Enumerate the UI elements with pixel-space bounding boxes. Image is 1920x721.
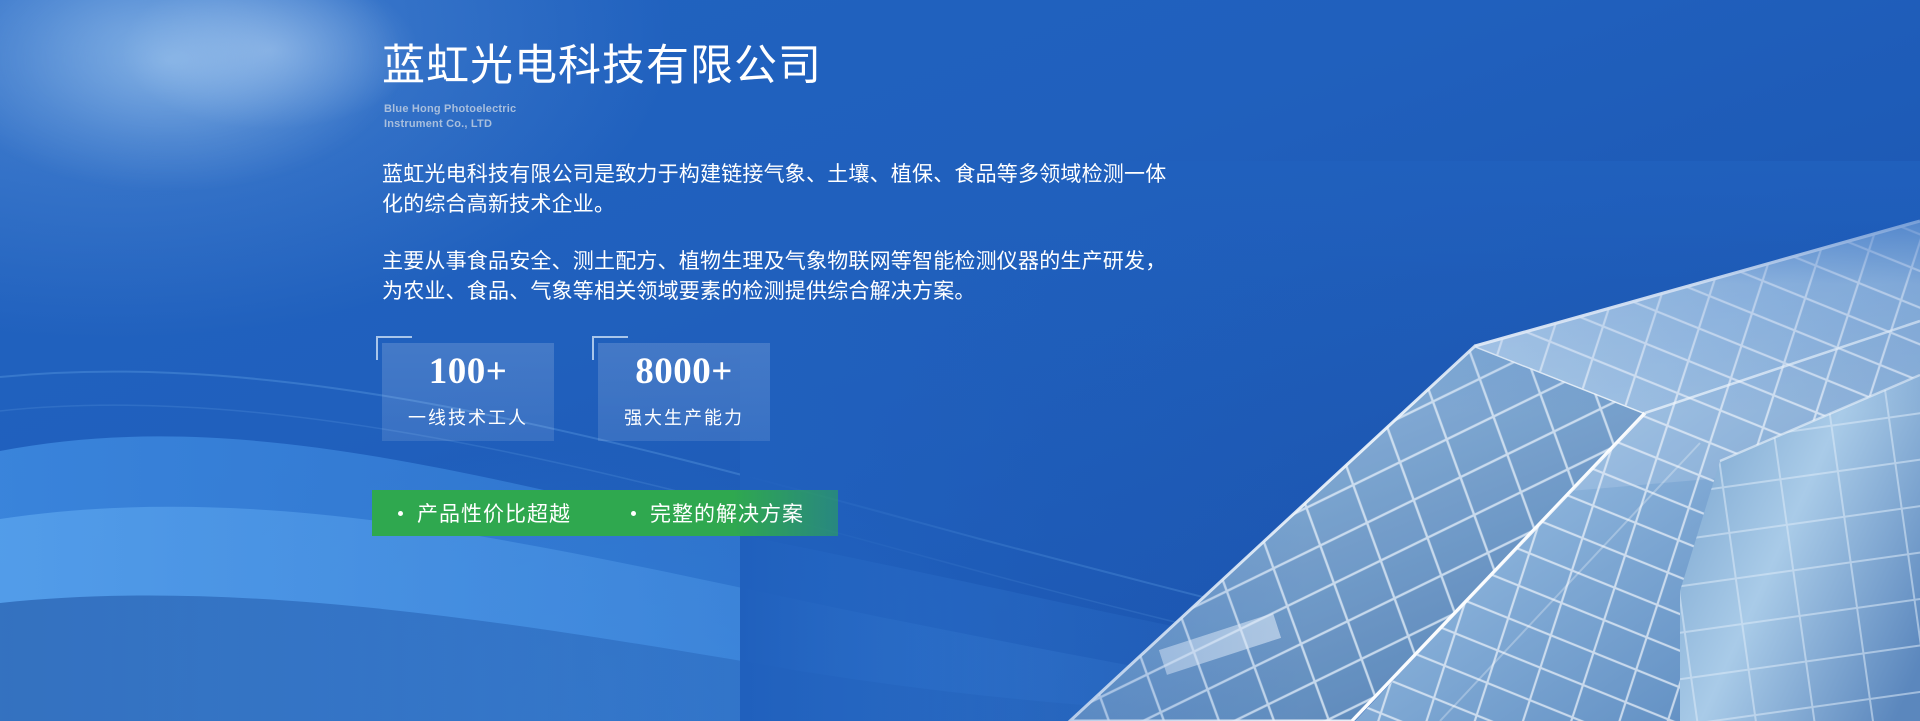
hero-banner: 蓝虹光电科技有限公司 Blue Hong Photoelectric Instr… [0,0,1920,721]
feature-tag-value: 产品性价比超越 [372,490,605,536]
stat-label: 强大生产能力 [624,404,744,430]
cloud-glow-decoration [0,0,400,190]
stat-value: 100+ [429,353,508,390]
stat-label: 一线技术工人 [408,404,528,430]
stat-card-capacity: 8000+ 强大生产能力 [598,343,770,441]
stat-card-workers: 100+ 一线技术工人 [382,343,554,441]
company-english-name-line2: Instrument Co., LTD [384,117,1562,132]
page-title: 蓝虹光电科技有限公司 [382,0,1562,90]
feature-tag-solution: 完整的解决方案 [605,490,838,536]
stats-group: 100+ 一线技术工人 8000+ 强大生产能力 [382,343,1562,441]
feature-tag-label: 产品性价比超越 [417,498,571,528]
intro-paragraph-1: 蓝虹光电科技有限公司是致力于构建链接气象、土壤、植保、食品等多领域检测一体化的综… [382,160,1182,221]
hero-content: 蓝虹光电科技有限公司 Blue Hong Photoelectric Instr… [382,0,1562,441]
company-english-name: Blue Hong Photoelectric Instrument Co., … [384,102,1562,132]
bullet-dot-icon [398,511,403,516]
company-english-name-line1: Blue Hong Photoelectric [384,102,1562,117]
stat-value: 8000+ [635,353,733,390]
bullet-dot-icon [631,511,636,516]
cloud-glow-decoration-secondary [120,0,420,130]
intro-paragraph-2: 主要从事食品安全、测土配方、植物生理及气象物联网等智能检测仪器的生产研发，为农业… [382,247,1182,308]
feature-tag-label: 完整的解决方案 [650,498,804,528]
feature-tag-bar: 产品性价比超越 完整的解决方案 [372,490,838,536]
